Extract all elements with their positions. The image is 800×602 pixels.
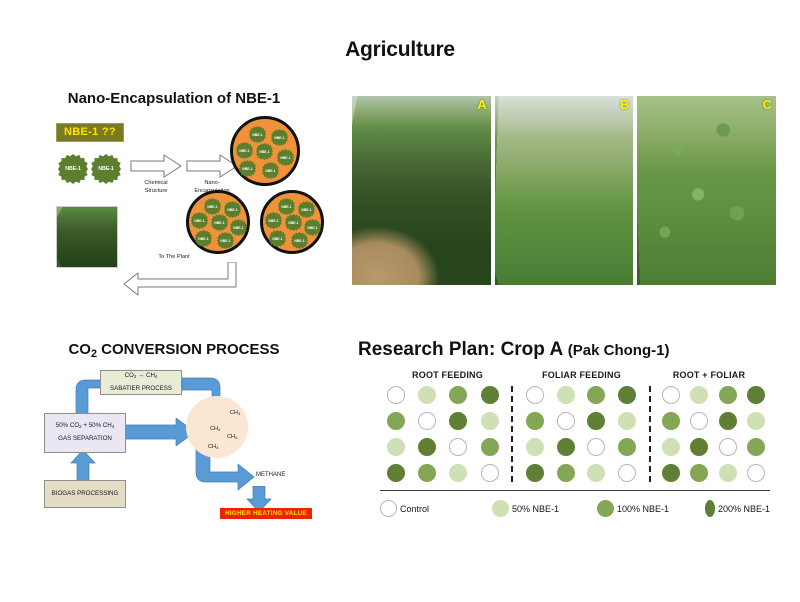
plot-dot-nbe100 <box>690 464 708 482</box>
molecule-nbe-1: NBE-1 <box>217 232 234 249</box>
block-header-root-feeding: ROOT FEEDING <box>380 370 515 380</box>
plot-cell[interactable] <box>443 386 474 404</box>
molecule-nbe-1: NBE-1 <box>224 201 241 218</box>
legend-label-control: Control <box>400 504 429 514</box>
plot-cell[interactable] <box>380 438 411 456</box>
plot-dot-nbe50 <box>481 412 499 430</box>
plant-photo <box>56 206 118 268</box>
plot-dot-nbe200 <box>587 412 605 430</box>
plot-cell[interactable] <box>411 412 442 430</box>
plot-dot-nbe100 <box>418 464 436 482</box>
molecule-nbe-1: NBE-1 <box>204 198 221 215</box>
legend-item-nbe200[interactable]: 200% NBE-1 <box>705 500 770 517</box>
field-photos-strip: A B C <box>352 96 776 285</box>
plot-dot-nbe200 <box>662 464 680 482</box>
plot-cell[interactable] <box>380 464 411 482</box>
plot-dot-nbe200 <box>481 386 499 404</box>
slide-canvas: Agriculture Nano-Encapsulation of NBE-1 … <box>0 0 800 602</box>
plot-dot-nbe200 <box>526 464 544 482</box>
legend-swatch-nbe200 <box>705 500 715 517</box>
plot-dot-nbe100 <box>481 438 499 456</box>
molecule-nbe-1: NBE-1 <box>265 212 282 229</box>
co2-conversion-diagram: CH4 CH4 CH4 CH4 CO2 → CH4 SABATIER PROCE… <box>34 368 344 538</box>
molecule-nbe-1: NBE-1 <box>239 160 256 177</box>
plot-cell[interactable] <box>581 412 612 430</box>
plot-dot-control <box>526 386 544 404</box>
plot-dot-nbe200 <box>418 438 436 456</box>
plot-dot-control <box>587 438 605 456</box>
molecule-nbe-1: NBE-1 <box>58 154 88 184</box>
plot-dot-control <box>387 386 405 404</box>
plot-dot-control <box>557 412 575 430</box>
ch4-label: CH4 <box>227 434 237 440</box>
arrow-to-the-plant-label: To The Plant <box>134 254 214 262</box>
molecule-nbe-1: NBE-1 <box>91 154 121 184</box>
sabatier-process-box: CO2 → CH4 SABATIER PROCESS <box>100 370 182 395</box>
field-photo-c: C <box>637 96 776 285</box>
plot-cell[interactable] <box>657 464 685 482</box>
block-header-root-foliar: ROOT + FOLIAR <box>648 370 770 380</box>
arrow-biogas-to-gas-separation <box>70 450 96 484</box>
plot-cell[interactable] <box>742 386 770 404</box>
sabatier-process-label: SABATIER PROCESS <box>110 384 172 395</box>
block-header-row: ROOT FEEDING FOLIAR FEEDING ROOT + FOLIA… <box>380 370 770 380</box>
plot-cell[interactable] <box>685 412 713 430</box>
plot-cell[interactable] <box>474 412 505 430</box>
nano-encapsulation-heading: Nano-Encapsulation of NBE-1 <box>34 90 314 107</box>
molecule-nbe-1: NBE-1 <box>298 201 315 218</box>
plot-dot-nbe100 <box>719 386 737 404</box>
legend-swatch-nbe100 <box>597 500 614 517</box>
plot-dot-nbe100 <box>587 386 605 404</box>
plot-row <box>380 412 505 430</box>
higher-heating-value-badge: HIGHER HEATING VALUE <box>220 508 312 519</box>
plot-dot-nbe200 <box>618 386 636 404</box>
plot-cell[interactable] <box>411 438 442 456</box>
plot-cell[interactable] <box>581 438 612 456</box>
molecule-nbe-1: NBE-1 <box>304 219 321 236</box>
plot-dot-nbe50 <box>747 412 765 430</box>
arrow-gas-separation-to-methane-pool <box>122 418 196 446</box>
legend-item-control[interactable]: Control <box>380 500 492 517</box>
plot-dot-control <box>690 412 708 430</box>
molecule-nbe-1: NBE-1 <box>191 212 208 229</box>
molecule-nbe-1: NBE-1 <box>236 142 253 159</box>
legend-divider <box>380 490 770 491</box>
arrow-chemical-structure-label: Chemical Structure <box>130 180 182 195</box>
block-divider <box>511 386 513 482</box>
plot-cell[interactable] <box>474 386 505 404</box>
photo-letter-b: B <box>620 97 629 112</box>
page-title: Agriculture <box>0 38 800 62</box>
biogas-processing-label: BIOGAS PROCESSING <box>52 489 119 500</box>
plot-dot-nbe50 <box>418 386 436 404</box>
molecule-nbe-1: NBE-1 <box>285 214 302 231</box>
plot-cell[interactable] <box>713 438 741 456</box>
plot-dot-control <box>481 464 499 482</box>
treatment-legend: Control50% NBE-1100% NBE-1200% NBE-1 <box>380 500 770 517</box>
biogas-processing-box: BIOGAS PROCESSING <box>44 480 126 508</box>
plot-dot-nbe50 <box>662 438 680 456</box>
plot-dot-control <box>719 438 737 456</box>
plot-cell[interactable] <box>550 412 581 430</box>
block-divider <box>649 386 651 482</box>
ch4-label: CH4 <box>210 426 220 432</box>
plot-dot-nbe50 <box>387 438 405 456</box>
plot-dot-nbe100 <box>618 438 636 456</box>
molecule-nbe-1: NBE-1 <box>256 143 273 160</box>
plot-cell[interactable] <box>519 412 550 430</box>
plot-dot-nbe200 <box>557 438 575 456</box>
treatment-block <box>657 386 770 482</box>
photo-letter-c: C <box>763 97 772 112</box>
plot-cell[interactable] <box>742 464 770 482</box>
plot-dot-nbe50 <box>690 386 708 404</box>
plot-cell[interactable] <box>612 386 643 404</box>
molecule-nbe-1: NBE-1 <box>230 219 247 236</box>
plot-cell[interactable] <box>657 386 685 404</box>
legend-swatch-nbe50 <box>492 500 509 517</box>
plot-row <box>657 386 770 404</box>
plot-dot-nbe50 <box>719 464 737 482</box>
plot-cell[interactable] <box>581 386 612 404</box>
legend-label-nbe100: 100% NBE-1 <box>617 504 669 514</box>
gas-separation-box: 50% CO2 + 50% CH4 GAS SEPARATION <box>44 413 126 453</box>
plot-cell[interactable] <box>581 464 612 482</box>
plot-cell[interactable] <box>550 438 581 456</box>
molecule-nbe-1: NBE-1 <box>278 198 295 215</box>
molecule-nbe-1: NBE-1 <box>262 162 279 179</box>
plot-cell[interactable] <box>612 438 643 456</box>
plot-dot-control <box>662 386 680 404</box>
plot-cell[interactable] <box>474 464 505 482</box>
plot-cell[interactable] <box>657 412 685 430</box>
field-photo-a: A <box>352 96 491 285</box>
plot-row <box>380 386 505 404</box>
plot-dot-nbe50 <box>526 438 544 456</box>
plot-row <box>380 438 505 456</box>
plot-cell[interactable] <box>380 412 411 430</box>
treatment-plot-grid <box>380 386 770 482</box>
plot-cell[interactable] <box>443 438 474 456</box>
plot-cell[interactable] <box>685 438 713 456</box>
plot-dot-control <box>618 464 636 482</box>
methane-label: METHANE <box>256 472 285 478</box>
plot-dot-nbe200 <box>449 412 467 430</box>
block-header-foliar-feeding: FOLIAR FEEDING <box>515 370 648 380</box>
nbe-1-question-tag: NBE-1 ?? <box>56 123 124 142</box>
plot-dot-nbe200 <box>747 386 765 404</box>
molecule-nbe-1: NBE-1 <box>277 149 294 166</box>
research-plan-grid: ROOT FEEDING FOLIAR FEEDING ROOT + FOLIA… <box>360 370 780 545</box>
plot-cell[interactable] <box>713 412 741 430</box>
plot-cell[interactable] <box>474 438 505 456</box>
legend-label-nbe50: 50% NBE-1 <box>512 504 559 514</box>
molecule-nbe-1: NBE-1 <box>291 232 308 249</box>
plot-cell[interactable] <box>519 438 550 456</box>
plot-cell[interactable] <box>443 412 474 430</box>
plot-cell[interactable] <box>550 386 581 404</box>
ch4-label: CH4 <box>230 410 240 416</box>
plot-dot-control <box>449 438 467 456</box>
gas-separation-label: GAS SEPARATION <box>58 434 112 445</box>
legend-label-nbe200: 200% NBE-1 <box>718 504 770 514</box>
plot-cell[interactable] <box>742 412 770 430</box>
plot-cell[interactable] <box>657 438 685 456</box>
molecule-nbe-1: NBE-1 <box>269 230 286 247</box>
plot-row <box>657 438 770 456</box>
gas-mixture-text: 50% CO2 + 50% CH4 <box>56 421 114 432</box>
plot-cell[interactable] <box>713 464 741 482</box>
photo-letter-a: A <box>477 97 486 112</box>
plot-dot-nbe200 <box>387 464 405 482</box>
plot-cell[interactable] <box>519 464 550 482</box>
plot-cell[interactable] <box>685 386 713 404</box>
plot-row <box>380 464 505 482</box>
treatment-block <box>380 386 505 482</box>
plot-dot-control <box>747 464 765 482</box>
plot-cell[interactable] <box>443 464 474 482</box>
plot-dot-nbe50 <box>587 464 605 482</box>
plot-dot-nbe100 <box>662 412 680 430</box>
plot-cell[interactable] <box>411 464 442 482</box>
plot-dot-nbe50 <box>618 412 636 430</box>
plot-row <box>519 464 642 482</box>
plot-cell[interactable] <box>612 412 643 430</box>
plot-dot-nbe100 <box>449 386 467 404</box>
legend-item-nbe100[interactable]: 100% NBE-1 <box>597 500 705 517</box>
plot-dot-nbe50 <box>557 386 575 404</box>
plot-row <box>657 464 770 482</box>
field-photo-b: B <box>495 96 634 285</box>
plot-row <box>519 438 642 456</box>
plot-cell[interactable] <box>612 464 643 482</box>
plot-cell[interactable] <box>411 386 442 404</box>
plot-cell[interactable] <box>380 386 411 404</box>
plot-cell[interactable] <box>519 386 550 404</box>
ch4-label: CH4 <box>208 444 218 450</box>
legend-swatch-control <box>380 500 397 517</box>
plot-dot-nbe200 <box>690 438 708 456</box>
plot-dot-nbe50 <box>449 464 467 482</box>
plot-dot-nbe100 <box>526 412 544 430</box>
plot-dot-nbe100 <box>557 464 575 482</box>
sabatier-reaction-text: CO2 → CH4 <box>125 371 158 382</box>
treatment-block <box>519 386 642 482</box>
plot-row <box>519 386 642 404</box>
plot-cell[interactable] <box>550 464 581 482</box>
plot-cell[interactable] <box>742 438 770 456</box>
molecule-nbe-1: NBE-1 <box>271 129 288 146</box>
molecule-nbe-1: NBE-1 <box>195 230 212 247</box>
legend-item-nbe50[interactable]: 50% NBE-1 <box>492 500 597 517</box>
plot-row <box>519 412 642 430</box>
plot-cell[interactable] <box>713 386 741 404</box>
molecule-nbe-1: NBE-1 <box>211 214 228 231</box>
research-plan-heading: Research Plan: Crop A (Pak Chong-1) <box>358 339 778 361</box>
plot-dot-nbe100 <box>747 438 765 456</box>
plot-dot-nbe200 <box>719 412 737 430</box>
co2-conversion-heading: CO2 CONVERSION PROCESS <box>34 341 314 360</box>
nano-encapsulation-diagram: NBE-1 ?? NBE-1 NBE-1 Chemical Structure … <box>34 112 334 312</box>
plot-dot-nbe100 <box>387 412 405 430</box>
plot-cell[interactable] <box>685 464 713 482</box>
plot-row <box>657 412 770 430</box>
molecule-nbe-1: NBE-1 <box>249 126 266 143</box>
plot-dot-control <box>418 412 436 430</box>
